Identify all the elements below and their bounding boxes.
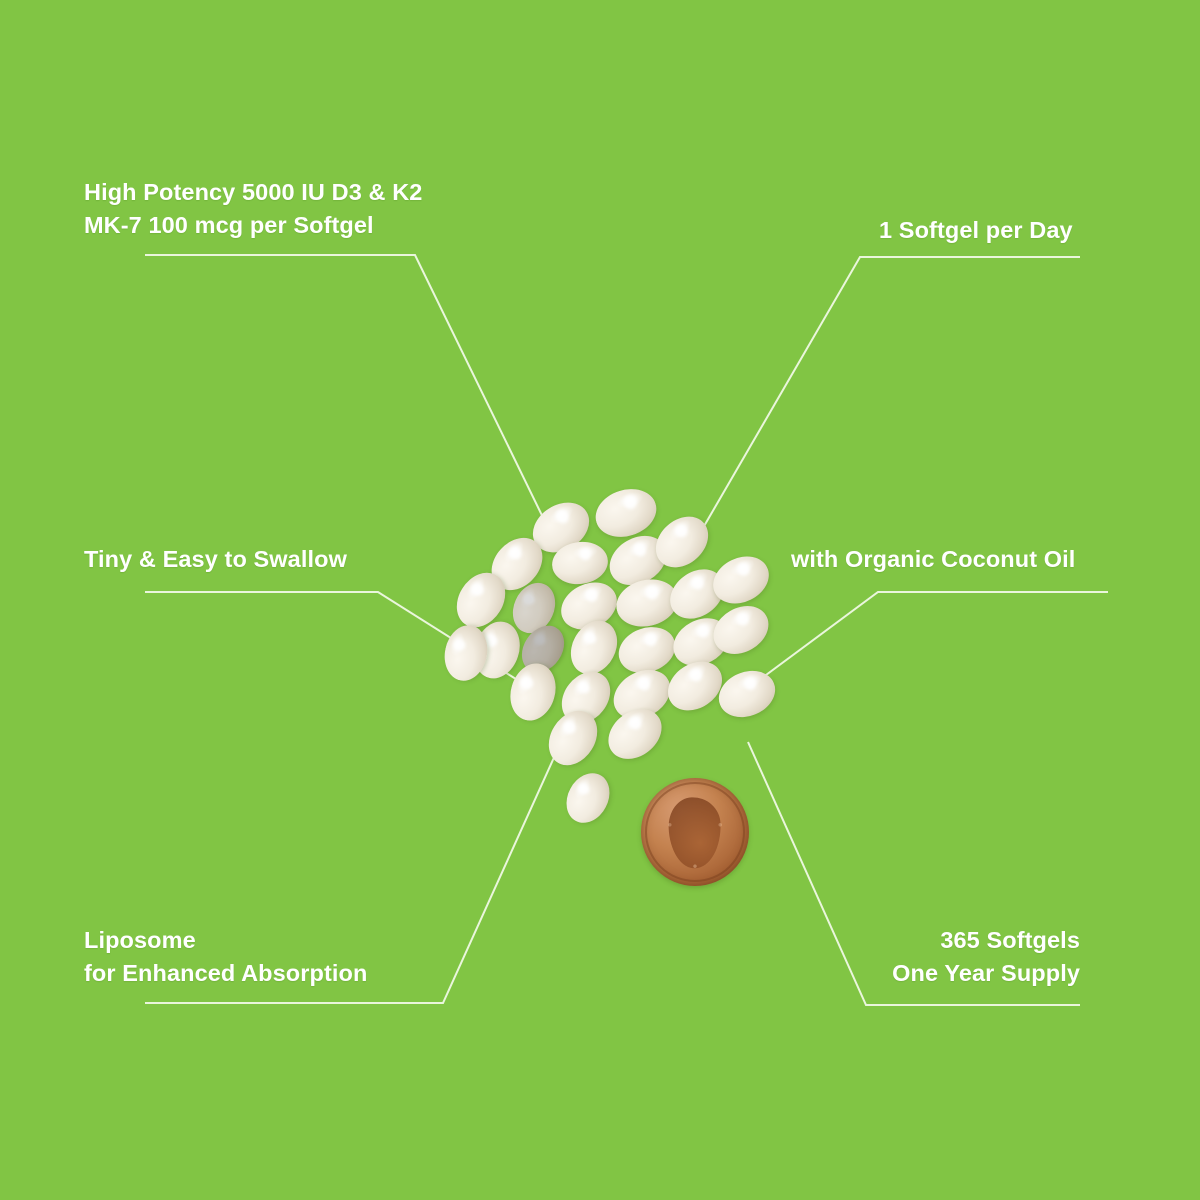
us-penny-size-reference — [641, 778, 749, 886]
callout-high-potency: High Potency 5000 IU D3 & K2 MK-7 100 mc… — [84, 176, 422, 243]
callout-liposome-line1: Liposome — [84, 924, 367, 957]
callout-tiny-easy-swallow: Tiny & Easy to Swallow — [84, 543, 347, 576]
callout-liposome-line2: for Enhanced Absorption — [84, 957, 367, 990]
callout-tiny-easy-swallow-line1: Tiny & Easy to Swallow — [84, 543, 347, 576]
infographic-canvas: High Potency 5000 IU D3 & K2 MK-7 100 mc… — [0, 0, 1200, 1200]
penny-lettering — [650, 787, 740, 877]
callout-365-softgels: 365 Softgels One Year Supply — [892, 924, 1080, 991]
softgel — [599, 699, 672, 769]
softgel — [504, 658, 562, 726]
callout-one-softgel-per-day-line1: 1 Softgel per Day — [879, 214, 1073, 247]
callout-one-softgel-per-day: 1 Softgel per Day — [879, 214, 1073, 247]
callout-organic-coconut-oil-line1: with Organic Coconut Oil — [791, 543, 1075, 576]
callout-high-potency-line1: High Potency 5000 IU D3 & K2 — [84, 176, 422, 209]
callout-365-softgels-line1: 365 Softgels — [892, 924, 1080, 957]
callout-365-softgels-line2: One Year Supply — [892, 957, 1080, 990]
callout-high-potency-line2: MK-7 100 mcg per Softgel — [84, 209, 422, 242]
softgel-isolated — [712, 663, 782, 726]
softgel — [589, 482, 662, 545]
callout-liposome-absorption: Liposome for Enhanced Absorption — [84, 924, 367, 991]
product-photo — [440, 480, 820, 880]
callout-organic-coconut-oil: with Organic Coconut Oil — [791, 543, 1075, 576]
softgel-isolated — [558, 766, 618, 831]
softgel — [659, 652, 732, 721]
